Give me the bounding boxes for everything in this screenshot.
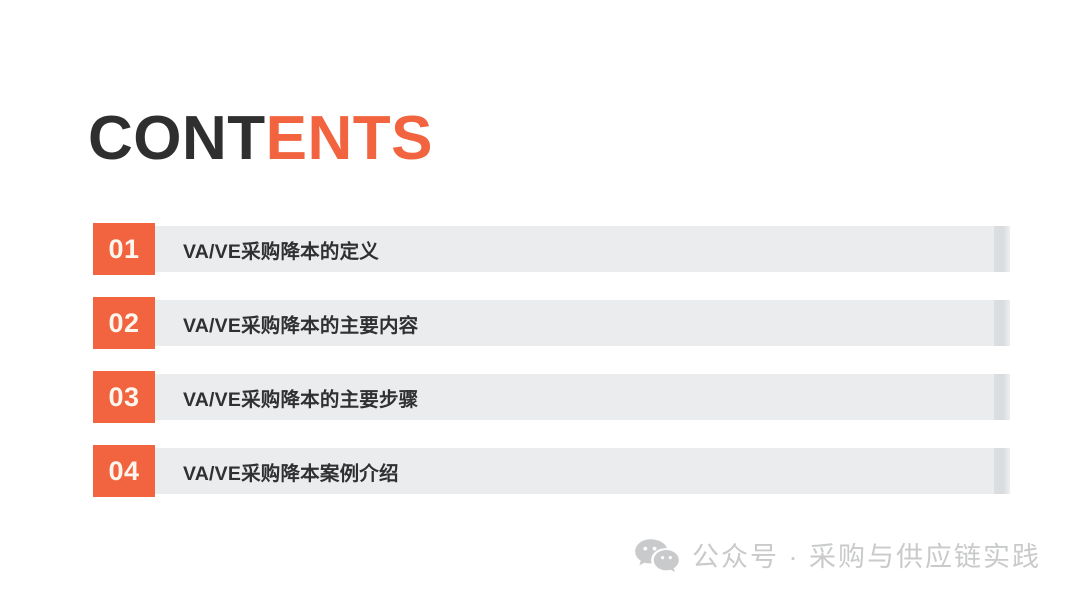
watermark-text: 公众号 · 采购与供应链实践 — [692, 544, 1041, 571]
contents-item-number: 01 — [93, 223, 155, 275]
contents-item-04[interactable]: 04 VA/VE采购降本案例介绍 — [93, 445, 1010, 497]
contents-item-number: 03 — [93, 371, 155, 423]
contents-item-01[interactable]: 01 VA/VE采购降本的定义 — [93, 223, 1010, 275]
contents-item-number: 02 — [93, 297, 155, 349]
contents-item-bar-cap — [994, 300, 1010, 346]
contents-item-number: 04 — [93, 445, 155, 497]
contents-item-03[interactable]: 03 VA/VE采购降本的主要步骤 — [93, 371, 1010, 423]
watermark: 公众号 · 采购与供应链实践 — [634, 537, 1041, 577]
contents-list: 01 VA/VE采购降本的定义 02 VA/VE采购降本的主要内容 03 VA/… — [93, 223, 1010, 497]
contents-item-bar-cap — [994, 226, 1010, 272]
contents-item-label: VA/VE采购降本的主要内容 — [183, 297, 418, 349]
page-title: CONTENTS — [88, 108, 433, 170]
contents-item-label: VA/VE采购降本案例介绍 — [183, 445, 399, 497]
slide-canvas: CONTENTS 01 VA/VE采购降本的定义 02 VA/VE采购降本的主要… — [0, 0, 1080, 608]
contents-item-bar-cap — [994, 448, 1010, 494]
contents-item-02[interactable]: 02 VA/VE采购降本的主要内容 — [93, 297, 1010, 349]
contents-item-bar-cap — [994, 374, 1010, 420]
contents-item-label: VA/VE采购降本的定义 — [183, 223, 379, 275]
page-title-accent-part: ENTS — [266, 104, 433, 173]
wechat-icon — [634, 537, 680, 577]
page-title-dark-part: CONT — [88, 104, 266, 173]
contents-item-label: VA/VE采购降本的主要步骤 — [183, 371, 418, 423]
